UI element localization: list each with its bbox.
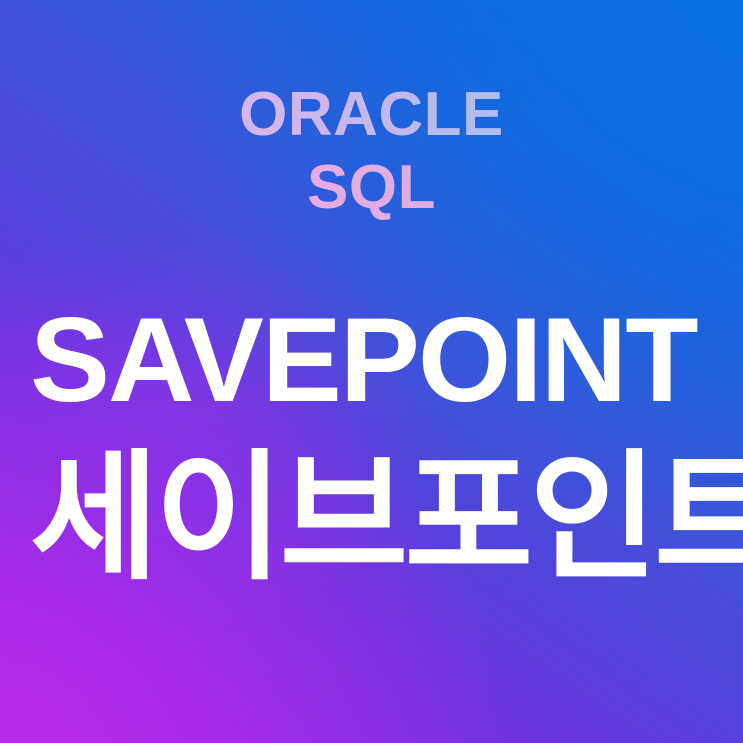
eyebrow-line-sql: SQL	[0, 151, 743, 224]
title-card: ORACLE SQL SAVEPOINT 세이브포인트	[0, 0, 743, 743]
headline-english: SAVEPOINT	[30, 300, 725, 420]
eyebrow-line-oracle: ORACLE	[0, 78, 743, 151]
headline-group: SAVEPOINT 세이브포인트	[30, 300, 725, 588]
eyebrow-heading: ORACLE SQL	[0, 78, 743, 224]
headline-korean: 세이브포인트	[30, 448, 725, 588]
